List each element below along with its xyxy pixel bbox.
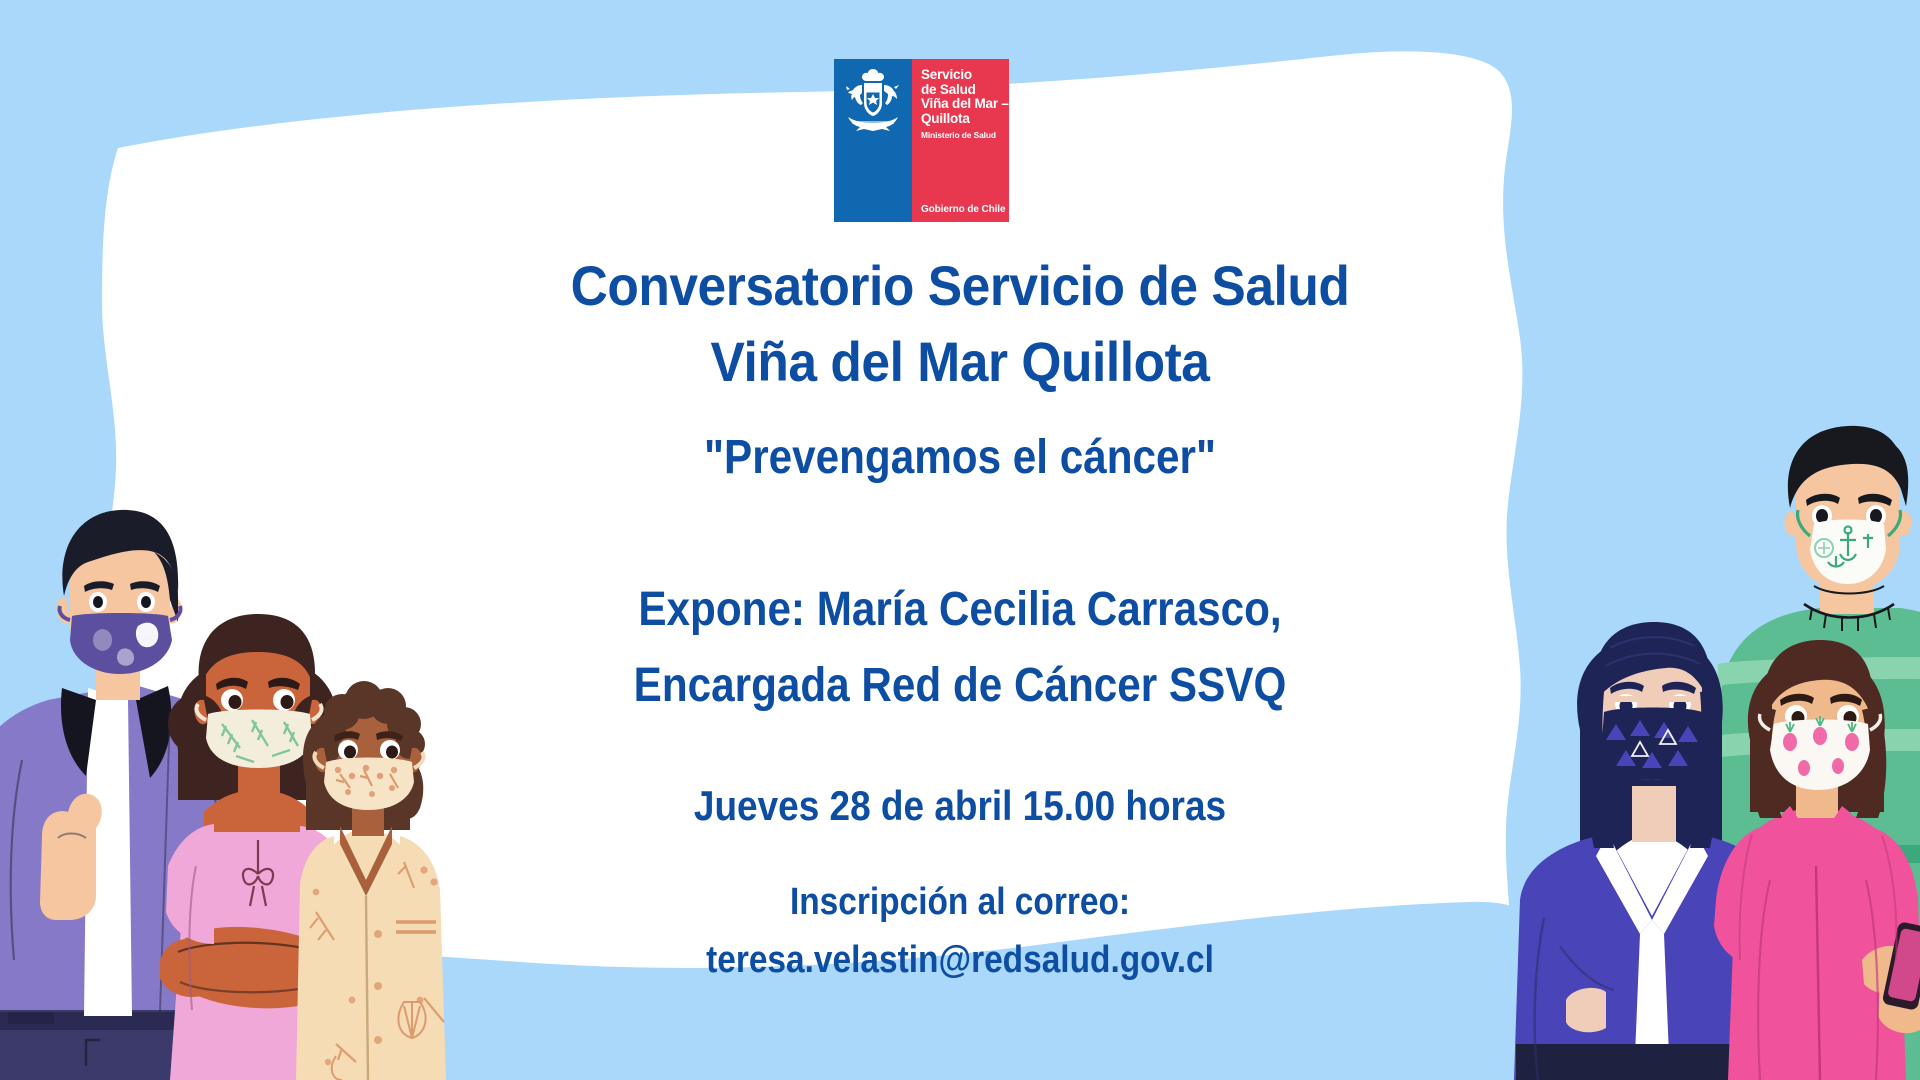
page-title: Conversatorio Servicio de Salud Viña del… <box>77 248 1843 400</box>
signup-label: Inscripción al correo: <box>115 873 1805 931</box>
logo-ministry: Ministerio de Salud <box>921 130 1009 140</box>
logo-red-panel: Servicio de Salud Viña del Mar – Quillot… <box>912 59 1009 222</box>
poster-canvas: Servicio de Salud Viña del Mar – Quillot… <box>0 0 1920 1080</box>
poster-subtitle: "Prevengamos el cáncer" <box>115 430 1805 486</box>
event-datetime: Jueves 28 de abril 15.00 horas <box>115 782 1805 830</box>
title-line-1: Conversatorio Servicio de Salud <box>77 248 1843 324</box>
logo-line-2: de Salud <box>921 83 1009 98</box>
title-line-2: Viña del Mar Quillota <box>77 324 1843 400</box>
logo-line-4: Quillota <box>921 112 1009 127</box>
speaker-line-1: Expone: María Cecilia Carrasco, <box>115 572 1805 648</box>
logo-government: Gobierno de Chile <box>921 204 1005 215</box>
logo-blue-panel <box>834 59 912 222</box>
speaker-line-2: Encargada Red de Cáncer SSVQ <box>115 648 1805 724</box>
speaker-block: Expone: María Cecilia Carrasco, Encargad… <box>115 572 1805 724</box>
signup-email[interactable]: teresa.velastin@redsalud.gov.cl <box>115 931 1805 989</box>
servicio-de-salud-logo: Servicio de Salud Viña del Mar – Quillot… <box>834 59 1009 222</box>
logo-line-3: Viña del Mar – <box>921 97 1009 112</box>
signup-block: Inscripción al correo: teresa.velastin@r… <box>115 873 1805 989</box>
logo-line-1: Servicio <box>921 68 1009 83</box>
chile-coat-of-arms-icon <box>842 67 904 139</box>
